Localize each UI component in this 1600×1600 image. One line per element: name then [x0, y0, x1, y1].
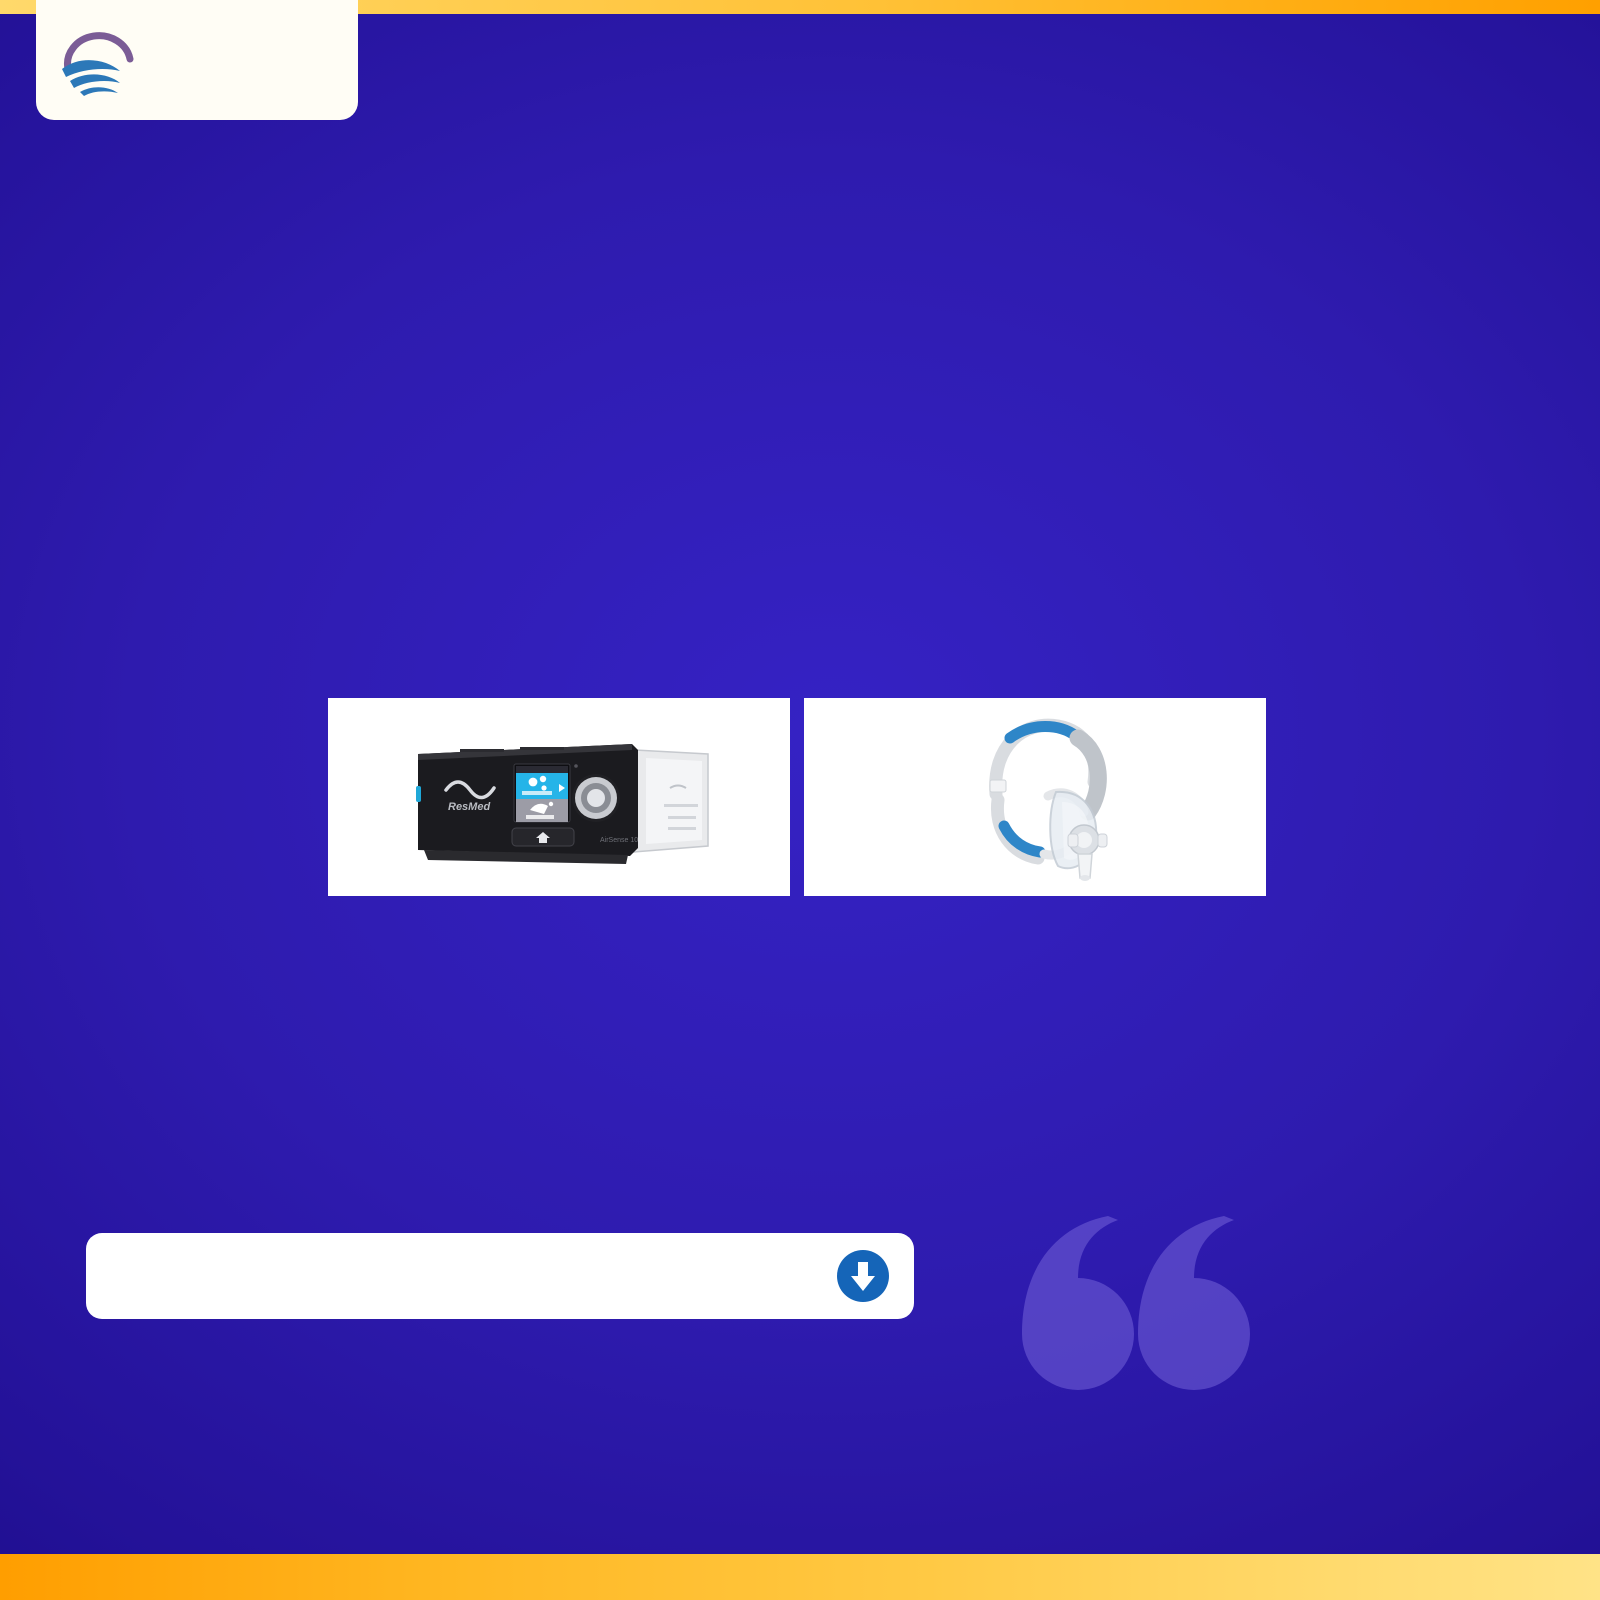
- cpap-mask-photo: [804, 698, 1266, 896]
- logo-arc-wave-icon: [54, 13, 146, 99]
- quotation-mark-icon: [990, 1216, 1250, 1446]
- svg-text:ResMed: ResMed: [448, 801, 490, 813]
- headline-block: [0, 158, 1600, 168]
- svg-text:AirSense 10: AirSense 10: [600, 837, 638, 844]
- down-arrow-circle-icon[interactable]: [836, 1249, 890, 1303]
- product-photos: ResMed: [328, 698, 1266, 896]
- quote-block: [990, 1216, 1510, 1516]
- cpap-mask-illustration: [952, 708, 1128, 890]
- bottom-accent-bar: [0, 1554, 1600, 1600]
- registration-banner[interactable]: [86, 1233, 914, 1319]
- cpap-machine-illustration: ResMed: [402, 724, 722, 872]
- brand-logo: [36, 0, 358, 120]
- cpap-machine-photo: ResMed: [328, 698, 790, 896]
- poster-canvas: ResMed: [0, 0, 1600, 1600]
